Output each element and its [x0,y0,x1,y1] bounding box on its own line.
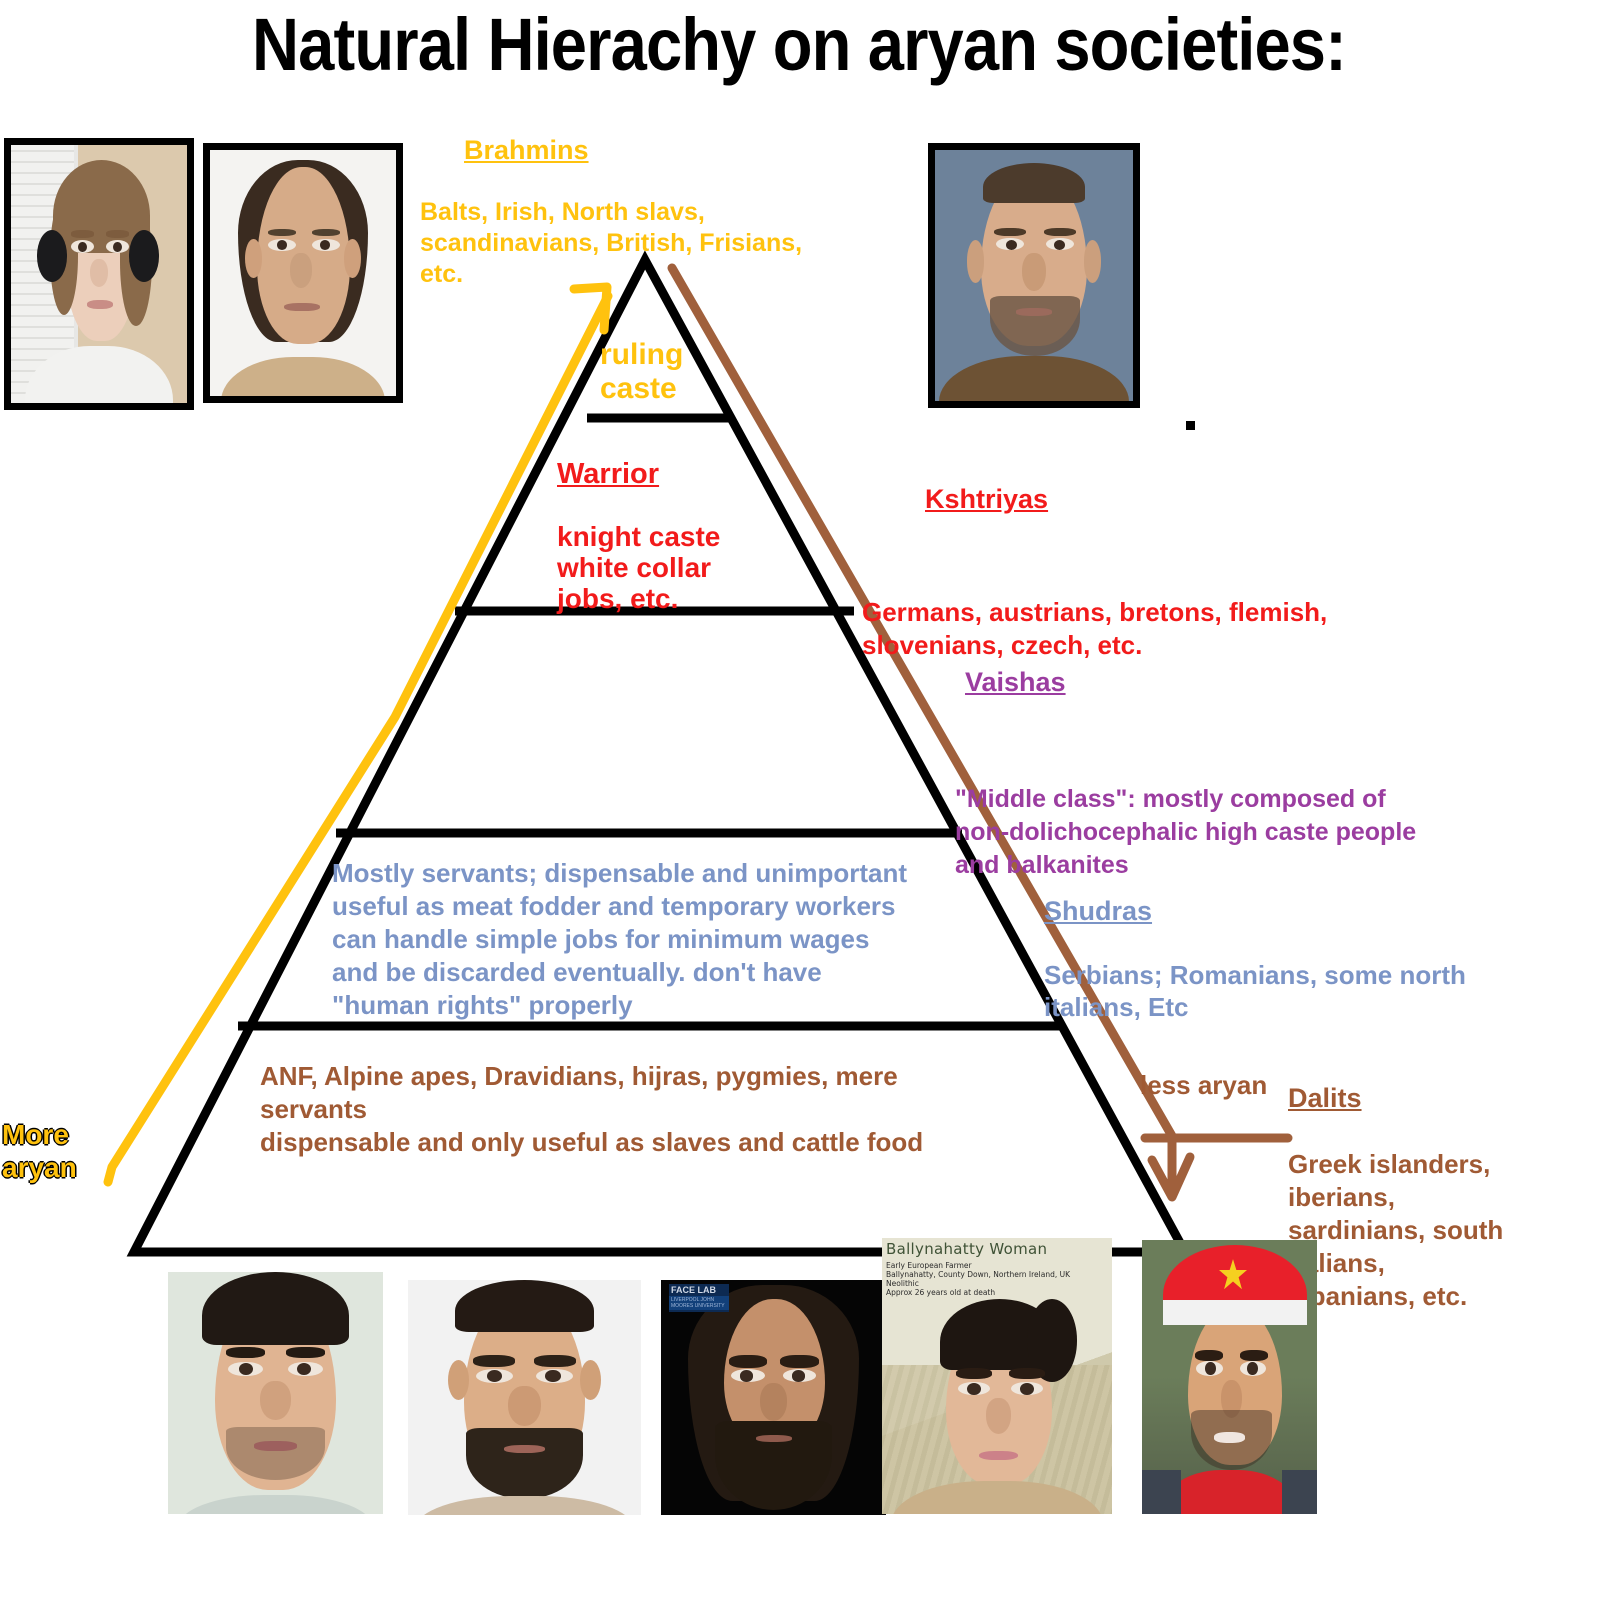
photo-reconstruction-long-haired-man [203,143,403,403]
stray-dot-marker [1186,421,1195,430]
label-warrior-caste: Warrior knight caste white collar jobs, … [557,428,787,645]
photo-reconstruction-hunter-gatherer: FACE LAB LIVERPOOL JOHN MOORES UNIVERSIT… [661,1280,886,1515]
photo-ballynahatty-woman: Ballynahatty Woman Early European Farmer… [882,1238,1112,1514]
ballynahatty-caption: Ballynahatty Woman Early European Farmer… [886,1241,1107,1297]
label-brahmins-heading: Brahmins [420,135,890,166]
label-warrior-heading: Warrior [557,459,787,490]
photo-reconstruction-bearded-warrior [928,143,1140,408]
label-less-aryan: less aryan [1140,1070,1290,1100]
label-dalits-body: Greek islanders, iberians, sardinians, s… [1288,1148,1588,1313]
label-dalits-heading: Dalits [1288,1082,1588,1115]
label-ruling-caste: ruling caste [600,338,760,406]
label-more-aryan: More aryan [2,1118,122,1184]
photo-young-man-headphones [4,138,194,410]
label-shudras-inner: Mostly servants; dispensable and unimpor… [332,857,992,1022]
label-brahmins-body: Balts, Irish, North slavs, scandinavians… [420,197,890,290]
photo-man-red-cap [1142,1240,1317,1514]
watermark-line2: LIVERPOOL JOHN MOORES UNIVERSITY [669,1296,729,1310]
label-dalits: Dalits Greek islanders, iberians, sardin… [1288,1049,1588,1346]
photo-watermark: FACE LAB LIVERPOOL JOHN MOORES UNIVERSIT… [669,1284,729,1312]
label-vaishas-heading: Vaishas [955,666,1525,699]
label-shudras-body: Serbians; Romanians, some north italians… [1044,959,1524,1023]
label-warrior-body: knight caste white collar jobs, etc. [557,521,787,614]
photo-reconstruction-bearded-man [408,1280,641,1515]
caption-sub: Early European Farmer Ballynahatty, Coun… [886,1261,1107,1297]
label-kshtriyas-heading: Kshtriyas [862,483,1402,516]
watermark-line1: FACE LAB [669,1284,729,1296]
label-dalits-inner: ANF, Alpine apes, Dravidians, hijras, py… [260,1060,1020,1159]
label-shudras-heading: Shudras [1044,895,1524,927]
label-brahmins: Brahmins Balts, Irish, North slavs, scan… [420,104,890,321]
label-shudras: Shudras Serbians; Romanians, some north … [1044,863,1524,1055]
photo-young-man-dark-hair [168,1272,383,1514]
caption-title: Ballynahatty Woman [886,1241,1107,1258]
page-title: Natural Hierachy on aryan societies: [96,4,1502,86]
